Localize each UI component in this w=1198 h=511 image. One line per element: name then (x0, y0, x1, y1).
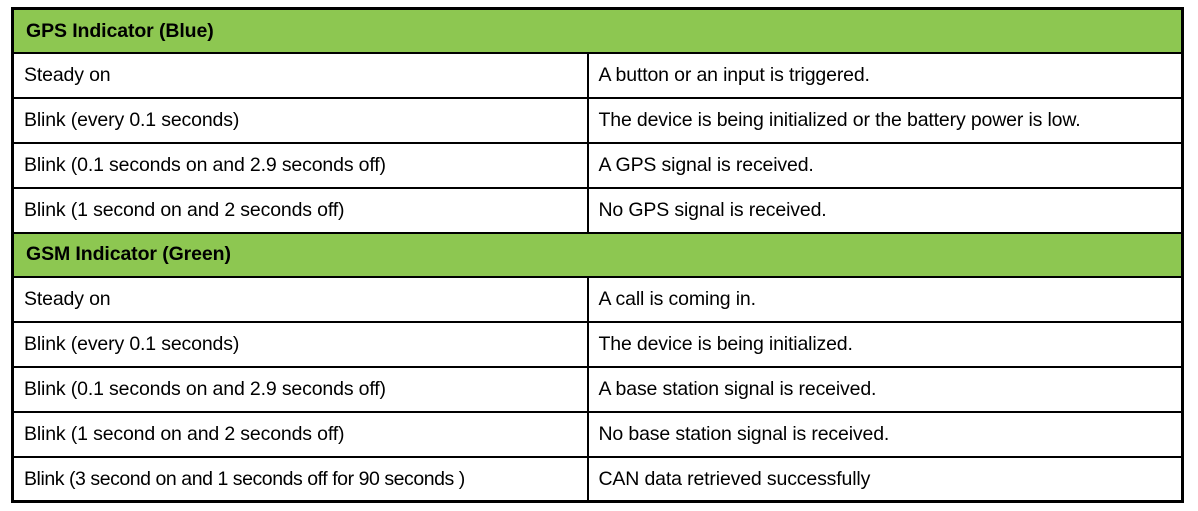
table-row: Blink (0.1 seconds on and 2.9 seconds of… (13, 143, 1183, 188)
cell-behavior: Blink (every 0.1 seconds) (13, 322, 588, 367)
table-row: Steady on A button or an input is trigge… (13, 53, 1183, 98)
cell-meaning: No GPS signal is received. (588, 188, 1183, 233)
page-root: GPS Indicator (Blue) Steady on A button … (0, 0, 1198, 511)
cell-behavior: Blink (1 second on and 2 seconds off) (13, 412, 588, 457)
section-header-row-gps: GPS Indicator (Blue) (13, 9, 1183, 53)
cell-meaning: A button or an input is triggered. (588, 53, 1183, 98)
table-row: Steady on A call is coming in. (13, 277, 1183, 322)
cell-behavior: Steady on (13, 277, 588, 322)
cell-behavior: Blink (every 0.1 seconds) (13, 98, 588, 143)
led-indicator-table: GPS Indicator (Blue) Steady on A button … (11, 7, 1184, 503)
cell-meaning: A GPS signal is received. (588, 143, 1183, 188)
table-row: Blink (3 second on and 1 seconds off for… (13, 457, 1183, 502)
table-row: Blink (1 second on and 2 seconds off) No… (13, 412, 1183, 457)
cell-behavior: Blink (3 second on and 1 seconds off for… (13, 457, 588, 502)
cell-behavior: Steady on (13, 53, 588, 98)
section-header-gsm: GSM Indicator (Green) (13, 233, 1183, 277)
cell-meaning: The device is being initialized or the b… (588, 98, 1183, 143)
table-row: Blink (1 second on and 2 seconds off) No… (13, 188, 1183, 233)
table-row: Blink (0.1 seconds on and 2.9 seconds of… (13, 367, 1183, 412)
cell-behavior: Blink (0.1 seconds on and 2.9 seconds of… (13, 367, 588, 412)
cell-meaning: A call is coming in. (588, 277, 1183, 322)
cell-behavior: Blink (1 second on and 2 seconds off) (13, 188, 588, 233)
section-header-gps: GPS Indicator (Blue) (13, 9, 1183, 53)
cell-meaning: CAN data retrieved successfully (588, 457, 1183, 502)
table-row: Blink (every 0.1 seconds) The device is … (13, 322, 1183, 367)
section-header-row-gsm: GSM Indicator (Green) (13, 233, 1183, 277)
cell-behavior: Blink (0.1 seconds on and 2.9 seconds of… (13, 143, 588, 188)
cell-meaning: No base station signal is received. (588, 412, 1183, 457)
table-row: Blink (every 0.1 seconds) The device is … (13, 98, 1183, 143)
cell-meaning: A base station signal is received. (588, 367, 1183, 412)
cell-meaning: The device is being initialized. (588, 322, 1183, 367)
